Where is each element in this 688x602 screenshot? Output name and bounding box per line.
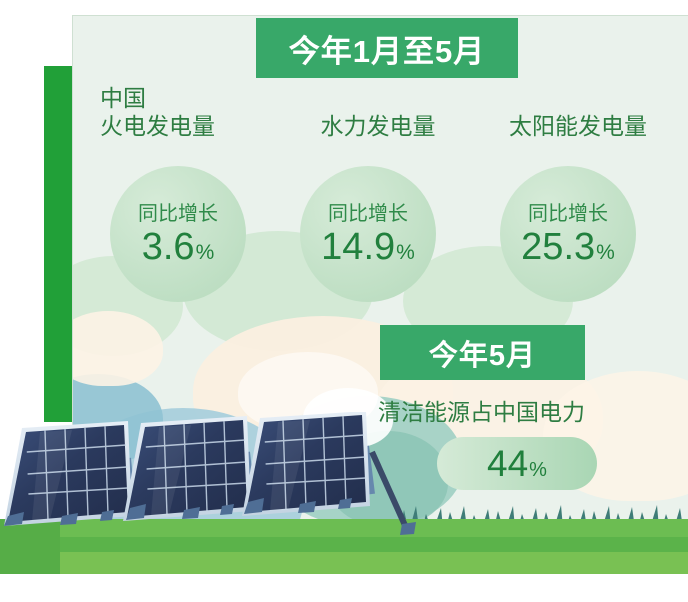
metric-sub-thermal: 同比增长 (138, 197, 218, 226)
metric-value-thermal: 3.6 % (142, 228, 215, 272)
banner-period-jan-may: 今年1月至5月 (256, 18, 518, 78)
metric-sub-hydro: 同比增长 (328, 197, 408, 226)
metric-value-solar: 25.3 % (521, 228, 615, 272)
metric-circle-thermal: 同比增长 3.6 % (110, 166, 246, 302)
metric-circle-hydro: 同比增长 14.9 % (300, 166, 436, 302)
banner-period-may-label: 今年5月 (429, 332, 536, 374)
metric-value-solar-number: 25.3 (521, 228, 595, 266)
metric-label-hydro: 水力发电量 (288, 112, 468, 140)
metric-circle-solar: 同比增长 25.3 % (500, 166, 636, 302)
metric-label-solar: 太阳能发电量 (478, 112, 678, 140)
metric-value-solar-unit: % (596, 234, 615, 272)
banner-period-may: 今年5月 (380, 325, 585, 380)
metric-value-hydro-number: 14.9 (321, 228, 395, 266)
clean-energy-pill: 44 % (437, 437, 597, 490)
left-accent-bar (44, 66, 72, 422)
infographic-root: 今年1月至5月 中国 火电发电量 水力发电量 太阳能发电量 同比增长 3.6 %… (0, 0, 688, 602)
metric-value-hydro: 14.9 % (321, 228, 415, 272)
solar-brace (372, 452, 408, 532)
metric-label-thermal: 中国 火电发电量 (100, 84, 280, 140)
metric-value-thermal-unit: % (196, 234, 215, 272)
clean-energy-value-unit: % (529, 459, 547, 482)
metric-sub-solar: 同比增长 (528, 197, 608, 226)
solar-panel-illustration (0, 412, 430, 542)
clean-energy-value: 44 % (487, 443, 547, 485)
metric-value-thermal-number: 3.6 (142, 228, 195, 266)
metric-value-hydro-unit: % (396, 234, 415, 272)
clean-energy-value-number: 44 (487, 443, 528, 485)
ground-shadow-band (0, 552, 688, 574)
banner-period-jan-may-label: 今年1月至5月 (289, 26, 485, 71)
